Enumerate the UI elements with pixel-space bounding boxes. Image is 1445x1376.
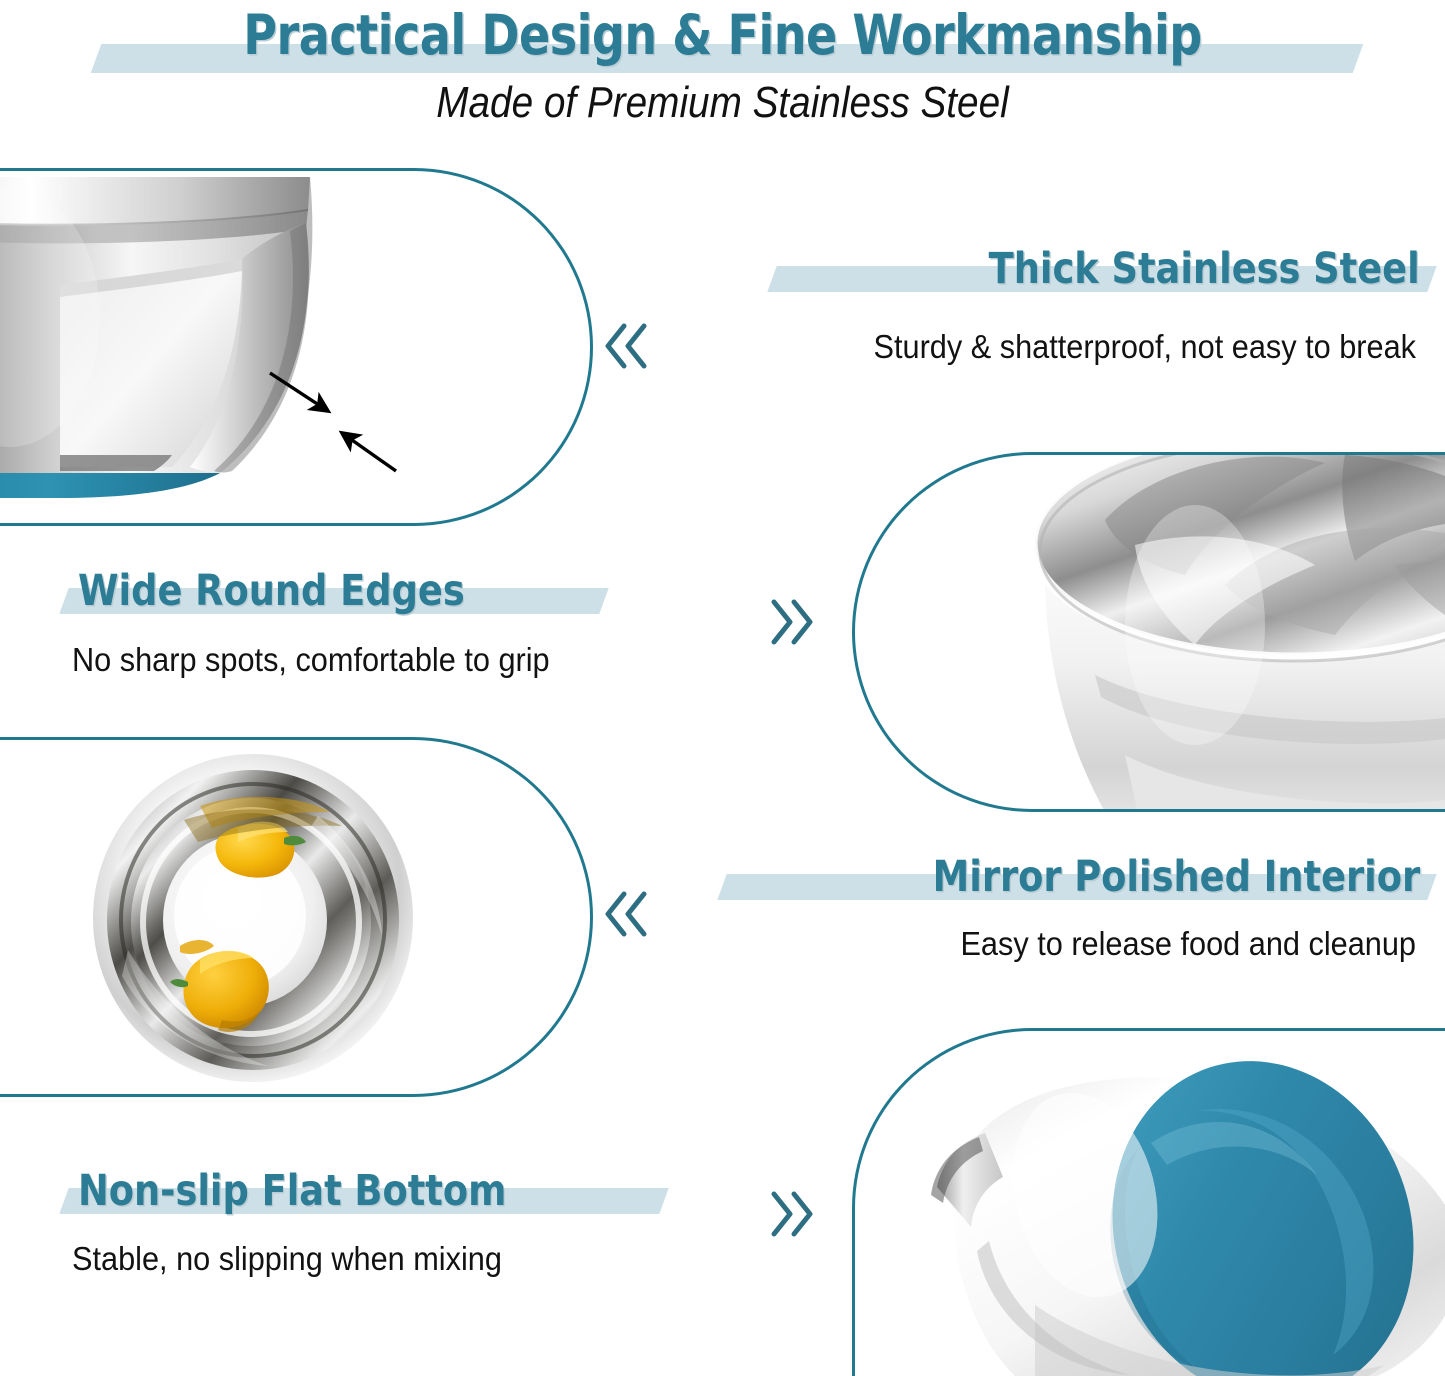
double-chevron-right-icon-2 bbox=[770, 598, 814, 646]
feature-subtitle-4: Stable, no slipping when mixing bbox=[72, 1240, 502, 1278]
feature-title-3: Mirror Polished Interior bbox=[933, 852, 1420, 902]
bowl-topdown-with-lemons-image bbox=[88, 750, 418, 1086]
panel-non-slip-flat-bottom-topdown bbox=[0, 737, 593, 1097]
thickness-arrows bbox=[258, 361, 458, 491]
page-title: Practical Design & Fine Workmanship bbox=[51, 3, 1395, 67]
infographic-canvas: Practical Design & Fine Workmanship Made… bbox=[0, 0, 1445, 1376]
panel-silicone-flat-bottom bbox=[852, 1028, 1445, 1376]
bowl-interior-image bbox=[895, 452, 1445, 812]
feature-subtitle-2: No sharp spots, comfortable to grip bbox=[72, 641, 550, 679]
feature-heading-non-slip-flat-bottom: Non-slip Flat Bottom bbox=[78, 1166, 529, 1216]
panel-mirror-polished-interior bbox=[852, 452, 1445, 812]
double-chevron-right-icon-4 bbox=[770, 1190, 814, 1238]
page-subtitle: Made of Premium Stainless Steel bbox=[87, 78, 1359, 128]
feature-title-1: Thick Stainless Steel bbox=[989, 244, 1420, 294]
header: Practical Design & Fine Workmanship Made… bbox=[0, 0, 1445, 150]
feature-heading-wide-round-edges: Wide Round Edges bbox=[78, 566, 485, 616]
thickness-arrow-upper bbox=[270, 373, 328, 411]
feature-title-4: Non-slip Flat Bottom bbox=[78, 1166, 506, 1216]
feature-subtitle-3: Easy to release food and cleanup bbox=[99, 925, 1416, 963]
bowl-base-silicone-image bbox=[885, 1055, 1445, 1376]
feature-heading-mirror-polished-interior: Mirror Polished Interior bbox=[660, 852, 1420, 902]
feature-subtitle-1: Sturdy & shatterproof, not easy to break bbox=[99, 328, 1416, 366]
feature-title-2: Wide Round Edges bbox=[78, 566, 465, 616]
thickness-arrow-lower bbox=[342, 433, 396, 471]
feature-heading-thick-stainless-steel: Thick Stainless Steel bbox=[660, 244, 1420, 294]
